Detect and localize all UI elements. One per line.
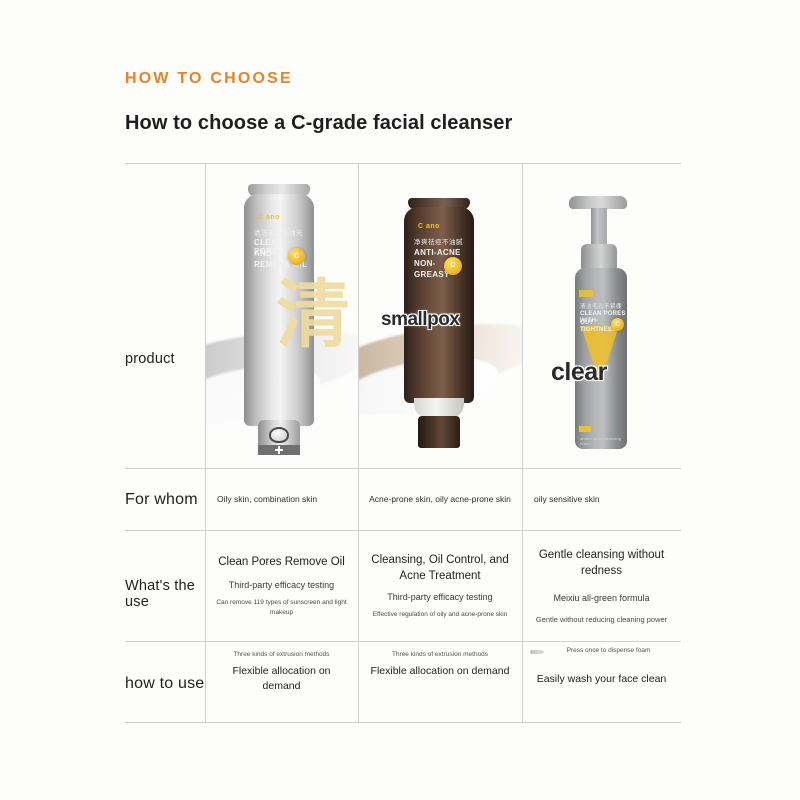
comparison-table: product C ano 清洁毛孔去油光 CLEAN PORES AND RE… <box>125 163 681 723</box>
page-title: How to choose a C-grade facial cleanser <box>125 112 512 135</box>
c-badge-label-3: C <box>611 322 624 328</box>
big-character-1: 清 <box>276 282 350 349</box>
c-badge-3: C <box>611 318 624 331</box>
for-whom-cell-3: oily sensitive skin <box>522 469 681 530</box>
tube-cap-bottom-2 <box>418 416 460 448</box>
product-pump-bottle: 清洁毛孔不紧绷 CLEAN PORES WITH- OUT TIGHTNESS … <box>575 196 627 449</box>
tube-body-2: C ano 净爽祛痘不油腻 ANTI-ACNE NON- GREASY C <box>404 207 474 403</box>
c-badge-1: C <box>288 248 305 265</box>
pump-press-icon <box>530 650 544 654</box>
for-whom-text-2: Acne-prone skin, oily acne-prone skin <box>366 493 514 506</box>
product-chinese-1: 清洁毛孔去油光 <box>254 227 303 237</box>
how-big-2: Flexible allocation on demand <box>366 664 514 679</box>
how-cell-3: Press once to dispense foam Easily wash … <box>522 642 681 722</box>
use-line2-1: Can remove 119 types of sunscreen and li… <box>213 598 350 618</box>
plus-icon-1 <box>275 446 283 454</box>
tube-cap-ring <box>269 427 289 443</box>
row-label-how: how to use <box>125 675 205 693</box>
use-cell-3: Gentle cleansing without redness Meixiu … <box>522 531 681 641</box>
how-big-1: Flexible allocation on demand <box>213 664 350 694</box>
how-big-3: Easily wash your face clean <box>530 672 673 687</box>
bottle-accent-bar <box>579 290 593 297</box>
use-line1-3: Meixiu all-green formula <box>530 592 673 606</box>
how-small-3: Press once to dispense foam <box>530 646 673 656</box>
how-small-2: Three kinds of extrusion methods <box>366 650 514 660</box>
use-cell-2: Cleansing, Oil Control, and Acne Treatme… <box>358 531 522 641</box>
product-en2-2: NON- <box>414 260 436 269</box>
for-whom-cell-1: Oily skin, combination skin <box>205 469 358 530</box>
poster-page: HOW TO CHOOSE How to choose a C-grade fa… <box>0 0 800 800</box>
for-whom-text-1: Oily skin, combination skin <box>213 493 350 506</box>
how-small-1: Three kinds of extrusion methods <box>213 650 350 660</box>
c-badge-label-1: C <box>288 253 305 260</box>
pump-collar <box>581 244 617 270</box>
product-cell-1: C ano 清洁毛孔去油光 CLEAN PORES AND REMOVE OIL… <box>206 164 358 468</box>
use-line1-2: Third-party efficacy testing <box>366 591 514 605</box>
brand-logo-2: C ano <box>418 223 440 230</box>
kicker-heading: HOW TO CHOOSE <box>125 70 293 88</box>
brand-logo-1: C ano <box>258 214 280 221</box>
tube-white-band <box>414 398 464 418</box>
c-badge-2: C <box>444 257 462 275</box>
bottle-footer-text: amino acid cleansing foam <box>580 436 624 446</box>
use-title-2: Cleansing, Oil Control, and Acne Treatme… <box>366 552 514 585</box>
product-chinese-2: 净爽祛痘不油腻 <box>414 236 463 246</box>
for-whom-cell-2: Acne-prone skin, oily acne-prone skin <box>358 469 522 530</box>
bottle-footer-accent <box>579 426 591 432</box>
row-label-use: What's the use <box>125 578 205 610</box>
product-en2-1: AND <box>254 250 272 259</box>
table-border-bottom <box>125 722 681 723</box>
pump-stem <box>591 208 607 246</box>
overlay-word-2: smallpox <box>381 309 459 331</box>
product-chinese-3: 清洁毛孔不紧绷 <box>580 302 622 310</box>
use-title-3: Gentle cleansing without redness <box>530 547 673 580</box>
use-title-1: Clean Pores Remove Oil <box>213 554 350 571</box>
product-en3-2: GREASY <box>414 271 450 280</box>
how-cell-2: Three kinds of extrusion methods Flexibl… <box>358 642 522 722</box>
overlay-word-3: clear <box>551 358 607 387</box>
product-cell-3: 清洁毛孔不紧绷 CLEAN PORES WITH- OUT TIGHTNESS … <box>523 164 681 468</box>
c-badge-label-2: C <box>444 262 462 269</box>
row-label-product: product <box>125 351 205 367</box>
use-line2-2: Effective regulation of oily and acne-pr… <box>366 610 514 620</box>
use-line1-1: Third-party efficacy testing <box>213 579 350 593</box>
how-cell-1: Three kinds of extrusion methods Flexibl… <box>205 642 358 722</box>
use-line2-3: Gentle without reducing cleaning power <box>530 614 673 626</box>
use-cell-1: Clean Pores Remove Oil Third-party effic… <box>205 531 358 641</box>
row-label-for-whom: For whom <box>125 491 205 509</box>
product-cell-2: C ano 净爽祛痘不油腻 ANTI-ACNE NON- GREASY C sm… <box>359 164 522 468</box>
for-whom-text-3: oily sensitive skin <box>530 493 673 506</box>
